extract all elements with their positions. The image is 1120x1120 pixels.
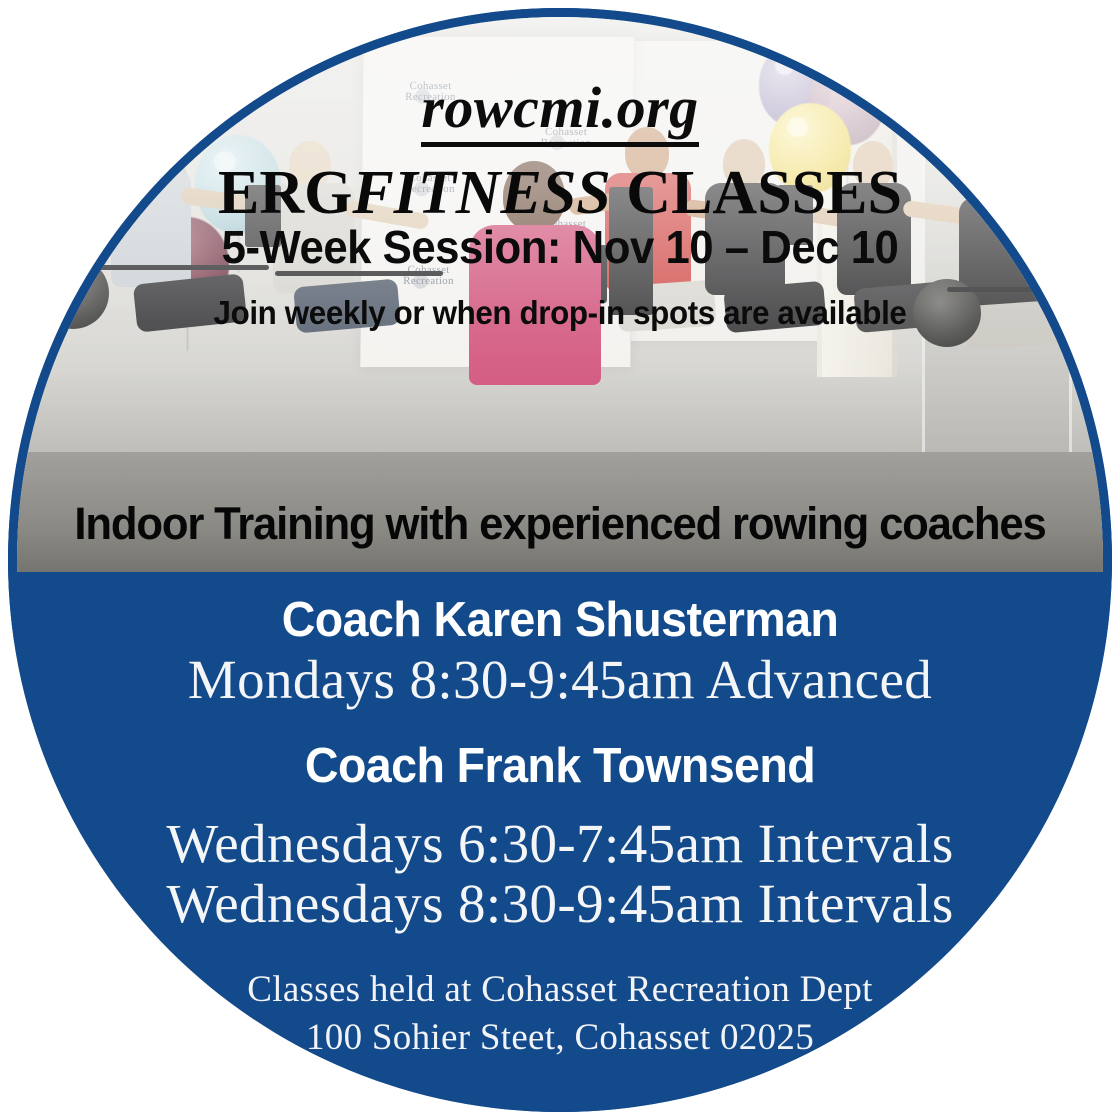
gym-photo: Cohasset Recreation Cohasset Recreation … — [17, 17, 1103, 572]
blue-info-panel — [17, 572, 1103, 1103]
photo-haze-overlay — [17, 17, 1103, 572]
badge-inner-disc: Cohasset Recreation Cohasset Recreation … — [17, 17, 1103, 1103]
flyer-poster: Cohasset Recreation Cohasset Recreation … — [0, 0, 1120, 1120]
circular-badge-ring: Cohasset Recreation Cohasset Recreation … — [8, 8, 1112, 1112]
